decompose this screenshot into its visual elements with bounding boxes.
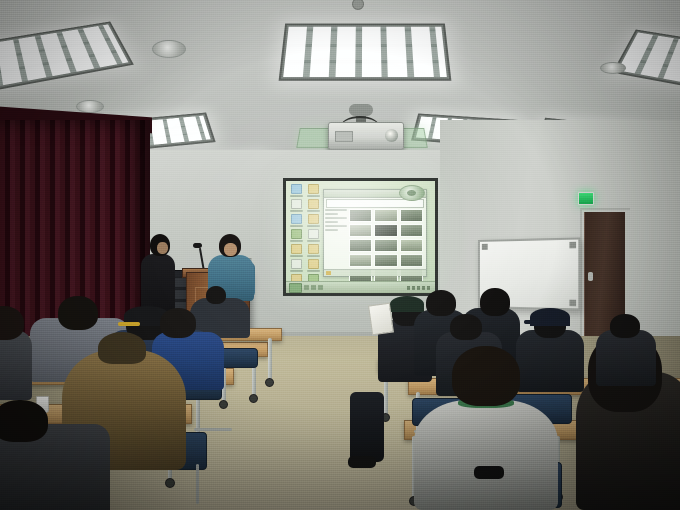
system-tray[interactable]: [407, 286, 432, 290]
troffer-light-center-front: [279, 24, 452, 81]
seminar-room-photo: [0, 0, 680, 510]
thumbnail-item[interactable]: [400, 239, 423, 252]
thumbnail-item[interactable]: [400, 224, 423, 237]
presenter-left-face: [157, 242, 168, 254]
tray-icon[interactable]: [422, 286, 425, 290]
desktop-icon[interactable]: [288, 244, 305, 257]
exit-sign-icon: [578, 192, 594, 205]
desktop-logo-icon: [399, 185, 425, 201]
thumbnail-item[interactable]: [400, 209, 423, 222]
desktop-icon[interactable]: [306, 214, 323, 227]
quick-launch-icon[interactable]: [304, 285, 309, 290]
thumbnail-item[interactable]: [400, 254, 423, 267]
desktop-icon-grid: [288, 183, 322, 283]
downlight-4: [600, 62, 626, 74]
thumbnail-item[interactable]: [374, 239, 397, 252]
start-button[interactable]: [289, 283, 302, 293]
thumbnail-item[interactable]: [374, 224, 397, 237]
tray-icon[interactable]: [407, 286, 410, 290]
desktop-icon[interactable]: [288, 199, 305, 212]
thumbnail-item[interactable]: [349, 224, 372, 237]
tray-icon[interactable]: [417, 286, 420, 290]
desktop-icon[interactable]: [288, 229, 305, 242]
status-bar: [324, 269, 426, 276]
thumbnail-item[interactable]: [349, 209, 372, 222]
quick-launch-icon[interactable]: [311, 285, 316, 290]
tray-icon[interactable]: [427, 286, 430, 290]
projected-desktop: [286, 181, 435, 293]
nav-item[interactable]: [325, 225, 347, 227]
desktop-icon[interactable]: [306, 199, 323, 212]
ceiling-projector: [328, 122, 404, 150]
nav-item[interactable]: [325, 217, 347, 219]
desktop-icon[interactable]: [306, 229, 323, 242]
thumbnail-item[interactable]: [349, 254, 372, 267]
desktop-icon[interactable]: [306, 244, 323, 257]
projection-screen: [283, 178, 438, 296]
tray-icon[interactable]: [412, 286, 415, 290]
microphone-icon: [193, 243, 202, 248]
handout-paper: [368, 303, 394, 336]
desktop-icon[interactable]: [306, 184, 323, 197]
desktop-icon[interactable]: [306, 259, 323, 272]
thumbnail-item[interactable]: [374, 209, 397, 222]
navigation-pane[interactable]: [324, 207, 348, 276]
thumbnail-item[interactable]: [374, 254, 397, 267]
nav-item[interactable]: [325, 213, 338, 215]
downlight-2: [76, 100, 104, 113]
attendee-legs: [350, 392, 384, 462]
projector-lens-icon: [385, 129, 398, 142]
projector-vent: [335, 131, 353, 142]
nav-item[interactable]: [325, 221, 338, 223]
thumbnail-grid: [348, 207, 426, 276]
nav-item[interactable]: [325, 209, 347, 211]
thumbnail-item[interactable]: [349, 239, 372, 252]
door-handle[interactable]: [588, 272, 593, 281]
quick-launch-icon[interactable]: [318, 285, 323, 290]
taskbar[interactable]: [286, 281, 435, 293]
desktop-icon[interactable]: [288, 184, 305, 197]
presenter-podium-face: [224, 243, 237, 256]
desktop-icon[interactable]: [288, 214, 305, 227]
desktop-icon[interactable]: [288, 259, 305, 272]
nav-item[interactable]: [325, 229, 338, 231]
shoe: [474, 466, 504, 479]
projector-bracket: [349, 104, 373, 116]
shoe: [348, 456, 376, 468]
file-explorer-window[interactable]: [323, 189, 427, 277]
downlight-1: [152, 40, 186, 58]
